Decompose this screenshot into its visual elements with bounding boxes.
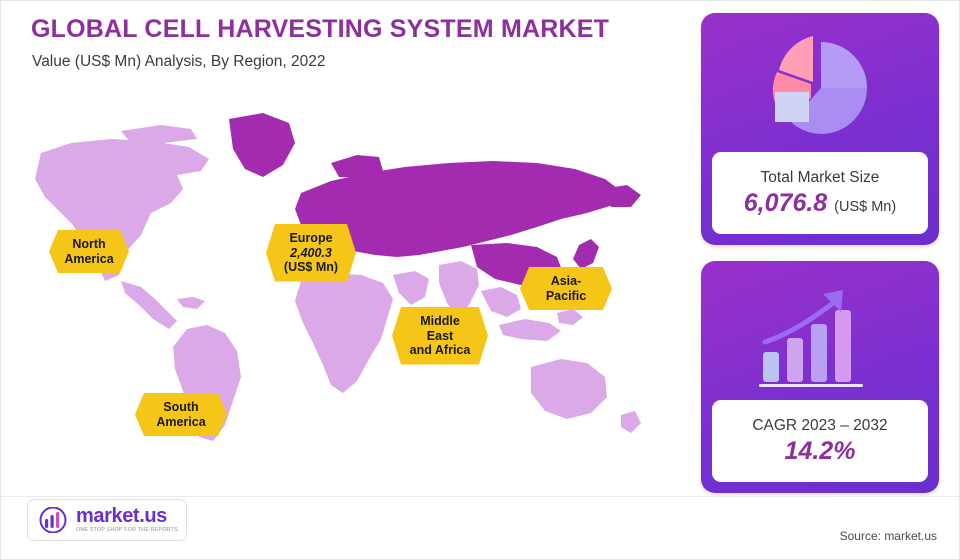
callout-north-america[interactable]: North America [49,230,129,273]
page-title: GLOBAL CELL HARVESTING SYSTEM MARKET [31,15,609,44]
total-market-size-card: Total Market Size 6,076.8 (US$ Mn) [701,13,939,245]
market-us-logo[interactable]: market.us ONE STOP SHOP FOR THE REPORTS [27,499,187,541]
cagr-card: CAGR 2023 – 2032 14.2% [701,261,939,493]
total-market-size-number: 6,076.8 [744,189,827,217]
cagr-value: 14.2% [785,437,856,466]
total-market-size-panel: Total Market Size 6,076.8 (US$ Mn) [712,152,928,234]
source-label: Source: market.us [840,529,937,543]
callout-south-america-line2: America [156,415,205,429]
infographic-page: GLOBAL CELL HARVESTING SYSTEM MARKET Val… [0,0,960,560]
callout-europe-value: 2,400.3 [275,246,347,261]
logo-name: market.us [76,506,178,526]
callout-mea-line3: and Africa [410,343,471,357]
callout-south-america-line1: South [163,400,198,414]
total-market-size-value: 6,076.8 (US$ Mn) [744,189,896,218]
growth-bar-chart-icon [701,261,939,411]
callout-north-america-line1: North [72,237,105,251]
logo-mark-icon [36,507,70,533]
total-market-size-label: Total Market Size [761,169,880,187]
callout-mea-line2: East [427,329,453,343]
world-map: North America Europe 2,400.3 (US$ Mn) As… [1,85,691,485]
callout-asia-pacific-line1: Asia- [551,274,582,288]
total-market-size-unit: (US$ Mn) [834,199,896,215]
callout-north-america-line2: America [64,252,113,266]
callout-europe-label: Europe [289,231,332,245]
callout-europe-unit: (US$ Mn) [284,260,338,274]
page-subtitle: Value (US$ Mn) Analysis, By Region, 2022 [32,53,326,71]
callout-mea-line1: Middle [420,314,460,328]
callout-middle-east-africa[interactable]: Middle East and Africa [392,307,488,365]
cagr-panel: CAGR 2023 – 2032 14.2% [712,400,928,482]
callout-asia-pacific[interactable]: Asia- Pacific [520,267,612,310]
logo-text: market.us ONE STOP SHOP FOR THE REPORTS [76,506,178,533]
callout-asia-pacific-line2: Pacific [546,289,586,303]
logo-tagline: ONE STOP SHOP FOR THE REPORTS [76,528,178,533]
pie-chart-icon [701,13,939,163]
callout-south-america[interactable]: South America [135,393,227,436]
callout-europe[interactable]: Europe 2,400.3 (US$ Mn) [266,224,356,282]
cagr-label: CAGR 2023 – 2032 [752,417,887,435]
